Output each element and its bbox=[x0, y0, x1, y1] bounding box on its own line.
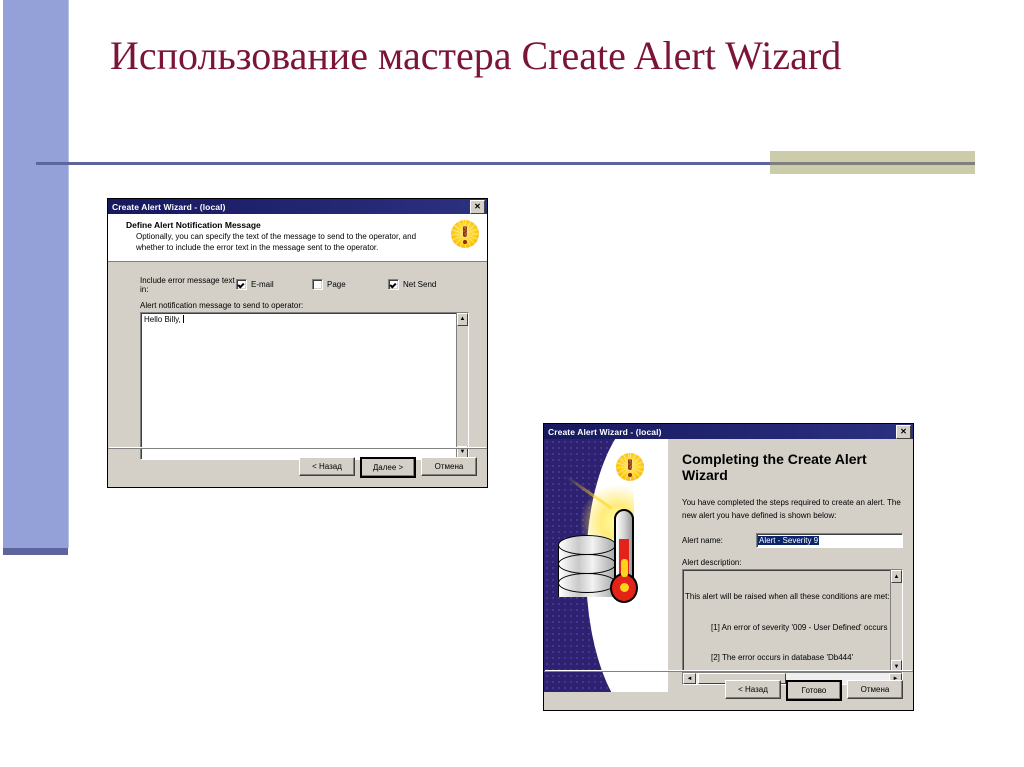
scroll-up-icon[interactable]: ▲ bbox=[457, 313, 468, 326]
wizard-completion-desc-line1: You have completed the steps required to… bbox=[682, 497, 903, 508]
checkbox-email[interactable]: E-mail bbox=[236, 279, 312, 290]
create-alert-wizard-complete-dialog: Create Alert Wizard - (local) ✕ bbox=[543, 423, 914, 711]
checkbox-net-send-box[interactable] bbox=[388, 279, 399, 290]
alert-message-value: Hello Billy, bbox=[144, 315, 183, 324]
checkbox-email-label: E-mail bbox=[251, 280, 274, 289]
scroll-up-icon[interactable]: ▲ bbox=[891, 570, 902, 583]
close-icon[interactable]: ✕ bbox=[470, 200, 485, 214]
dialog-title-text: Create Alert Wizard - (local) bbox=[548, 427, 896, 437]
thermometer-icon bbox=[610, 509, 638, 609]
next-button[interactable]: Далее > bbox=[360, 457, 416, 478]
wizard-summary-panel: Completing the Create Alert Wizard You h… bbox=[668, 439, 913, 692]
cancel-button[interactable]: Отмена bbox=[847, 680, 903, 699]
create-alert-wizard-define-dialog: Create Alert Wizard - (local) ✕ Define A… bbox=[107, 198, 488, 488]
dialog-button-strip: < Назад Готово Отмена bbox=[544, 671, 913, 710]
checkbox-net-send-label: Net Send bbox=[403, 280, 436, 289]
title-accent-block-line bbox=[770, 162, 975, 165]
slide-sidebar-accent bbox=[3, 0, 69, 548]
alert-message-text: Hello Billy, bbox=[141, 313, 468, 326]
alert-bulb-rays bbox=[451, 220, 479, 248]
include-error-text-row: Include error message text in: E-mail Pa… bbox=[140, 276, 473, 294]
wizard-step-desc-line2: whether to include the error text in the… bbox=[126, 243, 445, 254]
back-button[interactable]: < Назад bbox=[299, 457, 355, 476]
alert-name-row: Alert name: Alert - Severity 9 bbox=[682, 533, 903, 548]
alert-bulb-icon bbox=[616, 453, 644, 481]
alert-description-label: Alert description: bbox=[682, 558, 903, 567]
listbox-vertical-scrollbar[interactable]: ▲ ▼ bbox=[890, 570, 902, 673]
alert-name-value: Alert - Severity 9 bbox=[758, 536, 819, 545]
checkbox-net-send[interactable]: Net Send bbox=[388, 279, 464, 290]
dialog-title-text: Create Alert Wizard - (local) bbox=[112, 202, 470, 212]
close-icon[interactable]: ✕ bbox=[896, 425, 911, 439]
alert-description-lines: This alert will be raised when all these… bbox=[683, 570, 902, 685]
alert-bulb-icon bbox=[451, 220, 479, 248]
wizard-completion-heading: Completing the Create Alert Wizard bbox=[682, 451, 903, 483]
checkbox-page-box[interactable] bbox=[312, 279, 323, 290]
database-cylinder-icon bbox=[558, 535, 616, 607]
include-error-text-label: Include error message text in: bbox=[140, 276, 236, 294]
wizard-header: Define Alert Notification Message Option… bbox=[108, 214, 487, 262]
wizard-artwork-panel bbox=[544, 439, 668, 692]
dialog-button-strip: < Назад Далее > Отмена bbox=[108, 448, 487, 487]
textarea-vertical-scrollbar[interactable]: ▲ ▼ bbox=[456, 313, 468, 459]
checkbox-page-label: Page bbox=[327, 280, 346, 289]
finish-button[interactable]: Готово bbox=[786, 680, 842, 701]
alert-name-input[interactable]: Alert - Severity 9 bbox=[756, 533, 903, 548]
wizard-body: Include error message text in: E-mail Pa… bbox=[108, 262, 487, 460]
title-divider-rule bbox=[36, 162, 836, 165]
wizard-completion-desc-line2: new alert you have defined is shown belo… bbox=[682, 510, 903, 521]
checkbox-email-box[interactable] bbox=[236, 279, 247, 290]
slide-sidebar-accent-foot bbox=[3, 548, 68, 555]
message-field-label: Alert notification message to send to op… bbox=[140, 301, 473, 310]
page-title: Использование мастера Create Alert Wizar… bbox=[110, 30, 970, 81]
dialog-titlebar: Create Alert Wizard - (local) ✕ bbox=[544, 424, 913, 439]
checkbox-page[interactable]: Page bbox=[312, 279, 388, 290]
list-item: [2] The error occurs in database 'Db444' bbox=[685, 653, 900, 663]
wizard-step-title: Define Alert Notification Message bbox=[126, 220, 445, 230]
list-item: This alert will be raised when all these… bbox=[685, 592, 900, 602]
dialog-titlebar: Create Alert Wizard - (local) ✕ bbox=[108, 199, 487, 214]
wizard-step-desc-line1: Optionally, you can specify the text of … bbox=[126, 232, 445, 243]
alert-name-label: Alert name: bbox=[682, 536, 756, 545]
text-caret bbox=[183, 315, 184, 323]
list-item: [1] An error of severity '009 - User Def… bbox=[685, 623, 900, 633]
alert-bulb-rays bbox=[616, 453, 644, 481]
cancel-button[interactable]: Отмена bbox=[421, 457, 477, 476]
back-button[interactable]: < Назад bbox=[725, 680, 781, 699]
wizard-body: Completing the Create Alert Wizard You h… bbox=[544, 439, 913, 692]
alert-message-textarea[interactable]: Hello Billy, ▲ ▼ bbox=[140, 312, 469, 460]
alert-description-listbox[interactable]: This alert will be raised when all these… bbox=[682, 569, 903, 685]
